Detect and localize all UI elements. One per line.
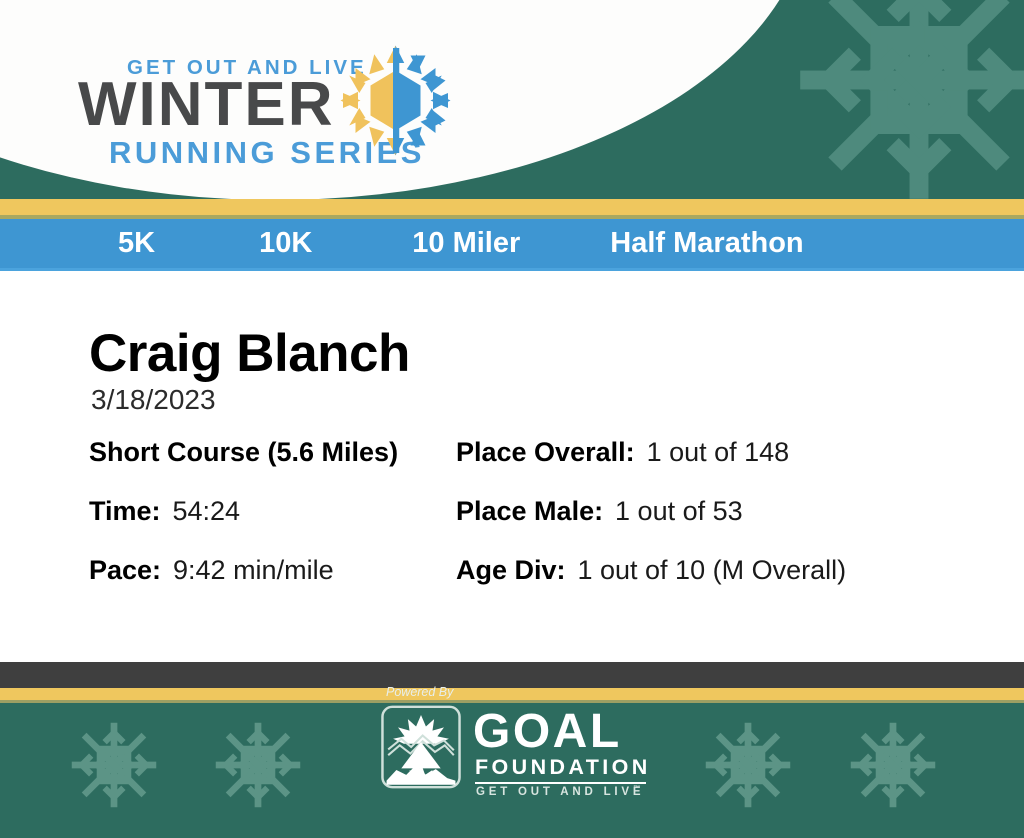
- sponsor-divider: [475, 782, 646, 784]
- sponsor-logo[interactable]: Powered By GOAL FOUNDATION GET OUT AND L…: [380, 686, 650, 806]
- stat-row: Short Course (5.6 Miles) Place Overall: …: [89, 439, 949, 498]
- stat-value: 1 out of 148: [639, 437, 789, 467]
- sponsor-name: GOAL: [473, 708, 622, 756]
- nav-item-half-marathon[interactable]: Half Marathon: [610, 229, 803, 258]
- snowflake-icon: [700, 717, 796, 813]
- race-result-card: GET OUT AND LIVE WINTER RUNNING SERIES: [0, 0, 1024, 838]
- result-details: Craig Blanch 3/18/2023 Short Course (5.6…: [0, 271, 1024, 662]
- stat-value: 9:42 min/mile: [166, 555, 334, 585]
- nav-item-5k[interactable]: 5K: [118, 229, 155, 258]
- snowflake-sun-logo-icon: [333, 38, 458, 163]
- powered-by-label: Powered By: [386, 686, 453, 699]
- snowflake-icon: [66, 717, 162, 813]
- nav-item-10k[interactable]: 10K: [259, 229, 312, 258]
- snowflake-icon: [784, 0, 1024, 199]
- stat-pace: Pace: 9:42 min/mile: [89, 557, 456, 584]
- stat-label: Short Course (5.6 Miles): [89, 437, 398, 467]
- stat-place-overall: Place Overall: 1 out of 148: [456, 439, 936, 466]
- stat-label: Place Male:: [456, 496, 603, 526]
- event-logo: GET OUT AND LIVE WINTER RUNNING SERIES: [78, 52, 458, 174]
- stat-course: Short Course (5.6 Miles): [89, 439, 456, 466]
- goal-foundation-mountain-sun-icon: [380, 704, 462, 790]
- sponsor-motto: GET OUT AND LIVE: [476, 787, 644, 799]
- stat-label: Age Div:: [456, 555, 566, 585]
- stats-grid: Short Course (5.6 Miles) Place Overall: …: [89, 439, 949, 616]
- sponsor-subname: FOUNDATION: [475, 757, 651, 779]
- snowflake-icon: [210, 717, 306, 813]
- snowflake-icon: [845, 717, 941, 813]
- stat-value: 1 out of 53: [608, 496, 743, 526]
- stat-row: Time: 54:24 Place Male: 1 out of 53: [89, 498, 949, 557]
- runner-name: Craig Blanch: [89, 327, 410, 380]
- logo-title: WINTER: [78, 74, 335, 136]
- stat-time: Time: 54:24: [89, 498, 456, 525]
- stat-place-male: Place Male: 1 out of 53: [456, 498, 936, 525]
- footer-dark-bar: [0, 662, 1024, 688]
- nav-item-10-miler[interactable]: 10 Miler: [412, 229, 520, 258]
- stat-age-div: Age Div: 1 out of 10 (M Overall): [456, 557, 936, 584]
- stat-label: Pace:: [89, 555, 161, 585]
- header-accent-bar: [0, 199, 1024, 215]
- stat-label: Time:: [89, 496, 161, 526]
- stat-value: 54:24: [165, 496, 240, 526]
- trademark-symbol: ™: [633, 785, 640, 792]
- header-banner: GET OUT AND LIVE WINTER RUNNING SERIES: [0, 0, 1024, 199]
- race-date: 3/18/2023: [91, 386, 216, 414]
- stat-row: Pace: 9:42 min/mile Age Div: 1 out of 10…: [89, 557, 949, 616]
- stat-value: 1 out of 10 (M Overall): [570, 555, 846, 585]
- race-distance-nav[interactable]: 5K 10K 10 Miler Half Marathon: [0, 219, 1024, 268]
- stat-label: Place Overall:: [456, 437, 635, 467]
